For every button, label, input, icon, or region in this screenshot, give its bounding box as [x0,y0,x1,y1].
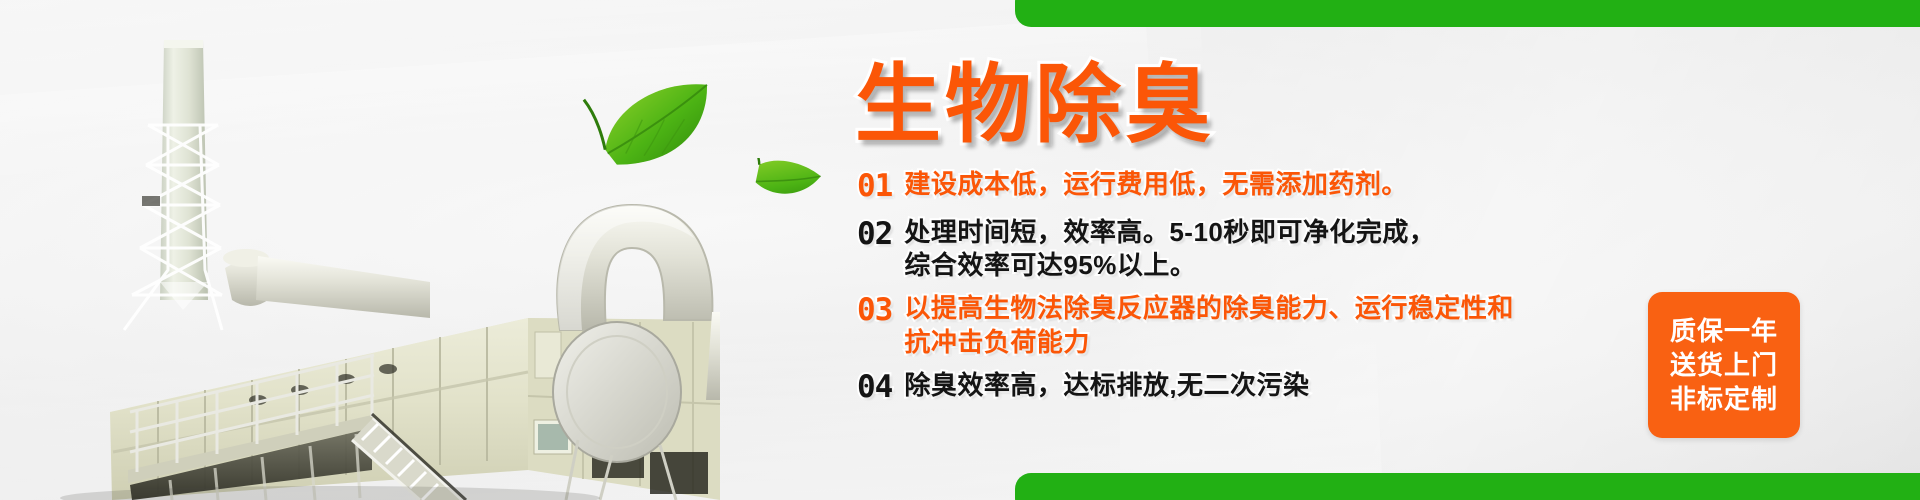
badge-line-delivery: 送货上门 [1670,348,1778,382]
feature-number: 04 [857,369,892,407]
feature-number: 02 [857,216,892,254]
leaf-icon [583,82,714,168]
page-title-text: 生物除臭 [855,57,1215,153]
badge-line-custom: 非标定制 [1670,382,1778,416]
feature-number: 01 [857,168,892,206]
feature-text: 建设成本低，运行费用低，无需添加药剂。 [904,168,1408,201]
feature-item-01: 01 建设成本低，运行费用低，无需添加药剂。 [857,168,1857,206]
badge-line-warranty: 质保一年 [1670,314,1778,348]
chimney-stack [124,40,222,330]
banner-content: 生物除臭 01 建设成本低，运行费用低，无需添加药剂。 02 处理时间短，效率高… [835,0,1920,500]
deodorization-equipment-photo [0,0,720,500]
page-title: 生物除臭 [855,62,1215,148]
feature-text: 除臭效率高，达标排放,无二次污染 [904,369,1309,402]
feature-item-02: 02 处理时间短，效率高。5-10秒即可净化完成， 综合效率可达95%以上。 [857,216,1857,283]
feature-text: 处理时间短，效率高。5-10秒即可净化完成， 综合效率可达95%以上。 [904,216,1435,283]
inlet-duct [223,249,430,318]
promo-banner: 生物除臭 01 建设成本低，运行费用低，无需添加药剂。 02 处理时间短，效率高… [0,0,1920,500]
guarantee-badge: 质保一年 送货上门 非标定制 [1648,292,1800,438]
feature-text: 以提高生物法除臭反应器的除臭能力、运行稳定性和 抗冲击负荷能力 [904,292,1514,359]
leaf-icon [750,158,822,214]
feature-number: 03 [857,292,892,330]
